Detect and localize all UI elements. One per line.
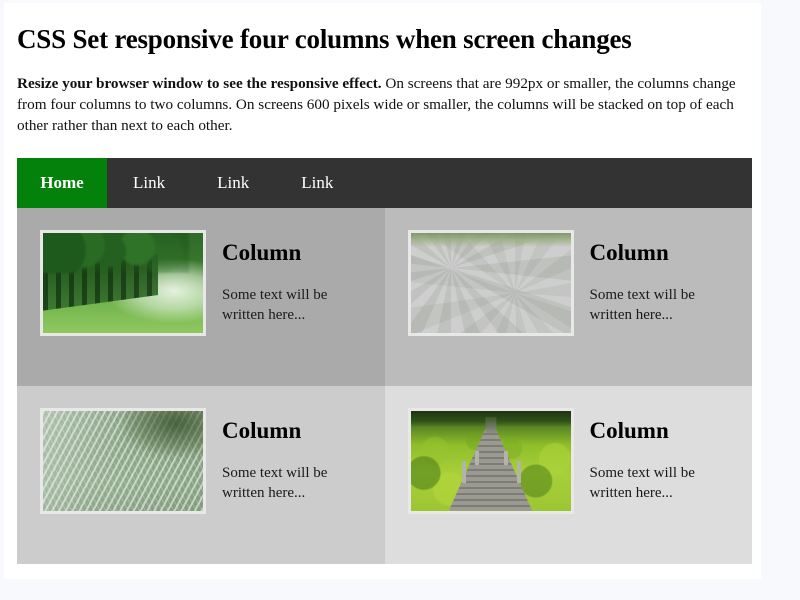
column-text-1: Column Some text will be written here... — [206, 226, 369, 326]
column-card-2: Column Some text will be written here... — [385, 208, 753, 386]
succulents-image — [411, 233, 571, 333]
intro-bold-text: Resize your browser window to see the re… — [17, 75, 382, 92]
tree-avenue-image — [43, 233, 203, 333]
column-card-4-inner: Column Some text will be written here... — [408, 404, 737, 514]
column-text-4: Column Some text will be written here... — [574, 404, 737, 504]
column-image-2 — [408, 230, 574, 336]
column-heading-1: Column — [222, 226, 369, 265]
column-row-top: Column Some text will be written here...… — [17, 208, 752, 386]
nav-item-link-2[interactable]: Link — [191, 158, 275, 208]
column-card-1-inner: Column Some text will be written here... — [40, 226, 369, 336]
column-image-1 — [40, 230, 206, 336]
column-paragraph-2: Some text will be written here... — [590, 265, 737, 326]
nav-item-link-3[interactable]: Link — [275, 158, 359, 208]
column-image-4 — [408, 408, 574, 514]
column-heading-3: Column — [222, 404, 369, 443]
boardwalk-post-left-1 — [462, 461, 466, 483]
column-card-3-inner: Column Some text will be written here... — [40, 404, 369, 514]
boardwalk-post-right-1 — [517, 461, 521, 483]
column-card-2-inner: Column Some text will be written here... — [408, 226, 737, 336]
column-card-4: Column Some text will be written here... — [385, 386, 753, 564]
column-card-3: Column Some text will be written here... — [17, 386, 385, 564]
nav-item-link-1[interactable]: Link — [107, 158, 191, 208]
column-paragraph-4: Some text will be written here... — [590, 443, 737, 504]
silver-foliage-image — [43, 411, 203, 511]
column-paragraph-3: Some text will be written here... — [222, 443, 369, 504]
column-text-3: Column Some text will be written here... — [206, 404, 369, 504]
column-heading-4: Column — [590, 404, 737, 443]
browser-page: CSS Set responsive four columns when scr… — [4, 3, 761, 579]
intro-paragraph: Resize your browser window to see the re… — [17, 55, 748, 137]
page-title: CSS Set responsive four columns when scr… — [17, 3, 748, 55]
column-text-2: Column Some text will be written here... — [574, 226, 737, 326]
page-content: CSS Set responsive four columns when scr… — [4, 3, 761, 564]
column-image-3 — [40, 408, 206, 514]
navigation-bar: Home Link Link Link — [17, 158, 752, 208]
boardwalk-image — [411, 411, 571, 511]
nav-item-home[interactable]: Home — [17, 158, 107, 208]
boardwalk-post-left-2 — [475, 451, 479, 465]
column-card-1: Column Some text will be written here... — [17, 208, 385, 386]
column-heading-2: Column — [590, 226, 737, 265]
column-paragraph-1: Some text will be written here... — [222, 265, 369, 326]
boardwalk-vanishing-point — [485, 417, 496, 433]
boardwalk-post-right-2 — [504, 451, 508, 465]
column-row-bottom: Column Some text will be written here... — [17, 386, 752, 564]
